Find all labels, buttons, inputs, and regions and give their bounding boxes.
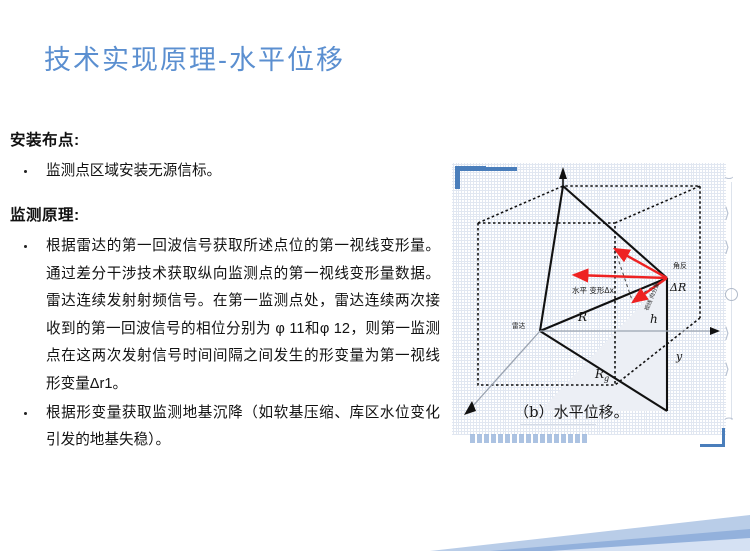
- label-radar: 雷达: [512, 321, 526, 330]
- page-title: 技术实现原理-水平位移: [44, 38, 345, 77]
- figure-bottom-rule: [520, 424, 596, 425]
- handle-guide-line: [731, 182, 732, 420]
- figure-diagram-svg: 水平 变形Δx 角反 ΔR 视线 向分量 . R Rg . h 雷达 y （b）…: [452, 163, 726, 435]
- figure-caption: （b）水平位移。: [514, 403, 629, 421]
- box-diagonal-top: [615, 186, 700, 223]
- section-installation: 安装布点: 监测点区域安装无源信标。: [10, 128, 440, 185]
- axis-y: [472, 331, 540, 407]
- bullet-list-installation: 监测点区域安装无源信标。: [10, 158, 440, 185]
- label-height-h: h: [650, 312, 658, 326]
- handle-bracket-bottom[interactable]: ⌢: [724, 410, 734, 425]
- label-y-axis: y: [675, 350, 683, 363]
- figure-horizontal-displacement: 水平 变形Δx 角反 ΔR 视线 向分量 . R Rg . h 雷达 y （b）…: [452, 163, 726, 435]
- edge-vertical-left-slant: [540, 186, 563, 331]
- handle-bracket-3[interactable]: ⟩: [724, 326, 730, 341]
- selection-top-bar[interactable]: [462, 167, 517, 171]
- label-delta-R: ΔR: [669, 281, 686, 294]
- figure-side-handles[interactable]: ⌣ ⟩ ⟩ ⟩ ⟩ ⌢: [722, 170, 746, 432]
- list-item: 监测点区域安装无源信标。: [10, 158, 440, 185]
- edge-top-slant: [563, 186, 667, 278]
- list-item: 根据雷达的第一回波信号获取所述点位的第一视线变形量。通过差分干涉技术获取纵向监测…: [10, 233, 440, 398]
- handle-bracket-4[interactable]: ⟩: [724, 362, 730, 377]
- section-heading-principle: 监测原理:: [10, 203, 440, 225]
- section-heading-installation: 安装布点:: [10, 128, 440, 150]
- handle-bracket-2[interactable]: ⟩: [724, 240, 730, 255]
- figure-bottom-dashed-strip: [470, 434, 588, 443]
- decor-ribbon-pale: [550, 538, 750, 551]
- handle-bracket-top[interactable]: ⌣: [724, 170, 734, 185]
- bullet-list-principle: 根据雷达的第一回波信号获取所述点位的第一视线变形量。通过差分干涉技术获取纵向监测…: [10, 233, 440, 454]
- vector-horizontal-red: [574, 275, 667, 278]
- handle-bracket-1[interactable]: ⟩: [724, 206, 730, 221]
- list-item: 根据形变量获取监测地基沉降（如软基压缩、库区水位变化引发的地基失稳）。: [10, 400, 440, 455]
- section-principle: 监测原理: 根据雷达的第一回波信号获取所述点位的第一视线变形量。通过差分干涉技术…: [10, 203, 440, 454]
- label-corner-reflector: 角反: [673, 261, 687, 270]
- axis-y-arrow: [464, 401, 476, 415]
- label-slant-range-R: R: [577, 310, 587, 324]
- axis-z-arrow: [559, 167, 567, 179]
- handle-rotate-icon[interactable]: [725, 288, 738, 301]
- axis-x-arrow: [710, 327, 720, 335]
- content-column: 安装布点: 监测点区域安装无源信标。 监测原理: 根据雷达的第一回波信号获取所述…: [10, 128, 440, 459]
